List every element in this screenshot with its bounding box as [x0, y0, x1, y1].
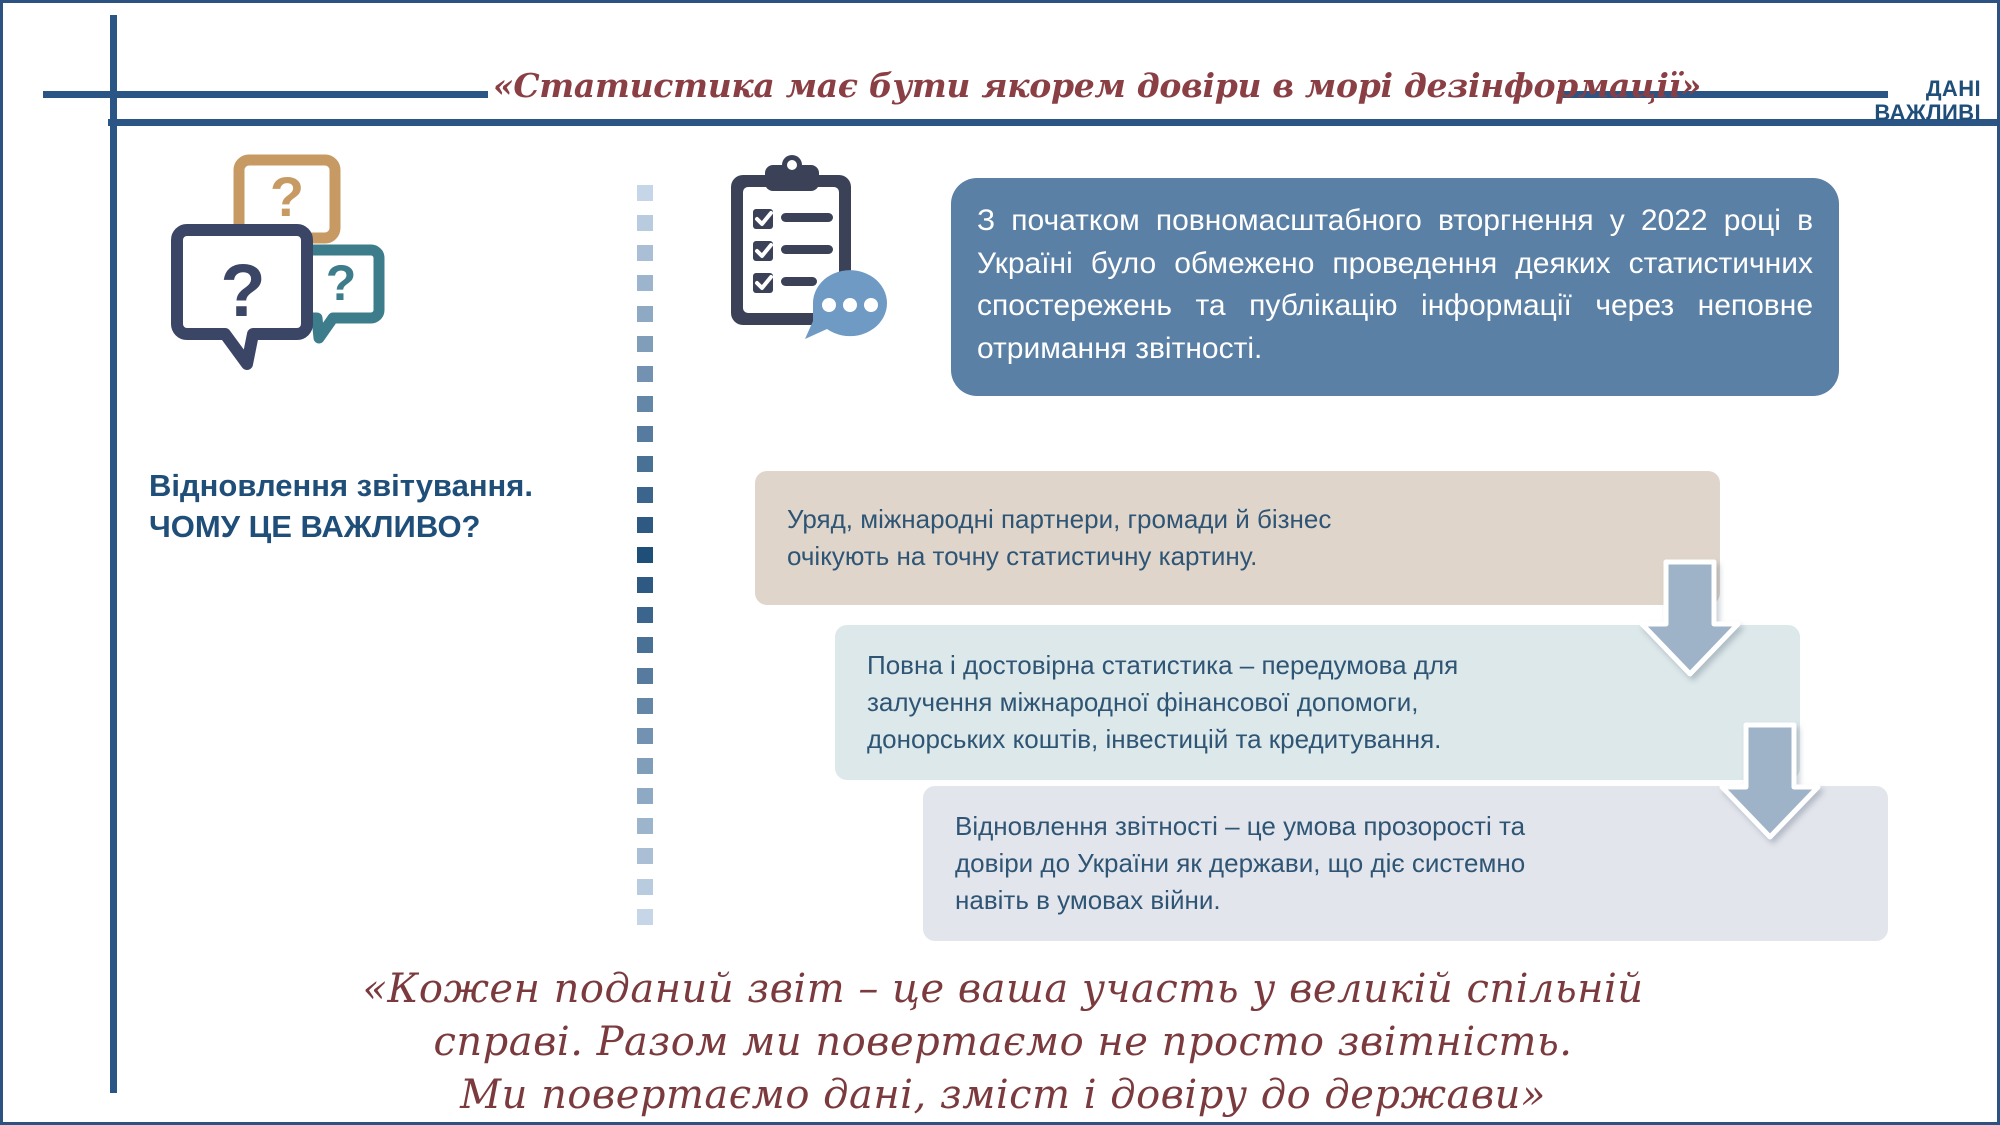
section-heading-line-1: Відновлення звітування. [149, 465, 669, 506]
question-speech-bubbles-icon: ? ? ? [153, 138, 393, 378]
divider-dot [637, 396, 653, 412]
info-box-2-line-1: Повна і достовірна статистика – передумо… [867, 647, 1770, 684]
divider-dot [637, 275, 653, 291]
info-box-1-line-2: очікують на точну статистичну картину. [787, 538, 1690, 575]
divider-dot [637, 185, 653, 201]
slide-root: «Статистика має бути якорем довіри в мор… [0, 0, 2000, 1125]
svg-text:?: ? [220, 249, 265, 332]
divider-dot [637, 245, 653, 261]
decorative-horizontal-line-left-upper [43, 91, 488, 98]
divider-dot [637, 728, 653, 744]
divider-dot [637, 547, 653, 563]
closing-quote: «Кожен поданий звіт – це ваша участь у в… [163, 963, 1843, 1123]
closing-quote-line-1: «Кожен поданий звіт – це ваша участь у в… [163, 963, 1843, 1016]
closing-quote-line-2: справі. Разом ми повертаємо не просто зв… [163, 1016, 1843, 1069]
brand-logo: ДАНІ ВАЖЛИВІ [1874, 77, 1981, 125]
divider-dot [637, 336, 653, 352]
divider-dot [637, 426, 653, 442]
main-callout-box: З початком повномасштабного вторгнення у… [951, 178, 1839, 396]
divider-dot [637, 879, 653, 895]
dotted-vertical-divider [637, 185, 653, 925]
divider-dot [637, 698, 653, 714]
divider-dot [637, 366, 653, 382]
divider-dot [637, 848, 653, 864]
divider-dot [637, 637, 653, 653]
divider-dot [637, 668, 653, 684]
brand-line-1: ДАНІ [1874, 77, 1981, 101]
divider-dot [637, 758, 653, 774]
down-arrow-2 [1716, 721, 1824, 841]
closing-quote-line-3: Ми повертаємо дані, зміст і довіру до де… [163, 1069, 1843, 1122]
info-box-2-line-3: донорських коштів, інвестицій та кредиту… [867, 721, 1770, 758]
info-box-government: Уряд, міжнародні партнери, громади й біз… [755, 471, 1720, 605]
divider-dot [637, 818, 653, 834]
section-heading: Відновлення звітування. ЧОМУ ЦЕ ВАЖЛИВО? [149, 465, 669, 547]
divider-dot [637, 607, 653, 623]
info-box-3-line-3: навіть в умовах війни. [955, 882, 1858, 919]
clipboard-checklist-chat-icon [713, 153, 918, 353]
divider-dot [637, 306, 653, 322]
down-arrow-1 [1636, 558, 1744, 678]
svg-text:?: ? [270, 165, 304, 228]
brand-line-2: ВАЖЛИВІ [1874, 101, 1981, 125]
info-box-1-line-1: Уряд, міжнародні партнери, громади й біз… [787, 501, 1690, 538]
decorative-horizontal-line-lower [108, 119, 2000, 126]
divider-dot [637, 215, 653, 231]
divider-dot [637, 788, 653, 804]
divider-dot [637, 577, 653, 593]
section-heading-line-2: ЧОМУ ЦЕ ВАЖЛИВО? [149, 506, 669, 547]
decorative-vertical-line [110, 15, 117, 1093]
divider-dot [637, 517, 653, 533]
divider-dot [637, 487, 653, 503]
divider-dot [637, 456, 653, 472]
divider-dot [637, 909, 653, 925]
svg-text:?: ? [326, 255, 357, 311]
info-box-3-line-2: довіри до України як держави, що діє сис… [955, 845, 1858, 882]
info-box-2-line-2: залучення міжнародної фінансової допомог… [867, 684, 1770, 721]
page-title: «Статистика має бути якорем довіри в мор… [493, 66, 1553, 105]
